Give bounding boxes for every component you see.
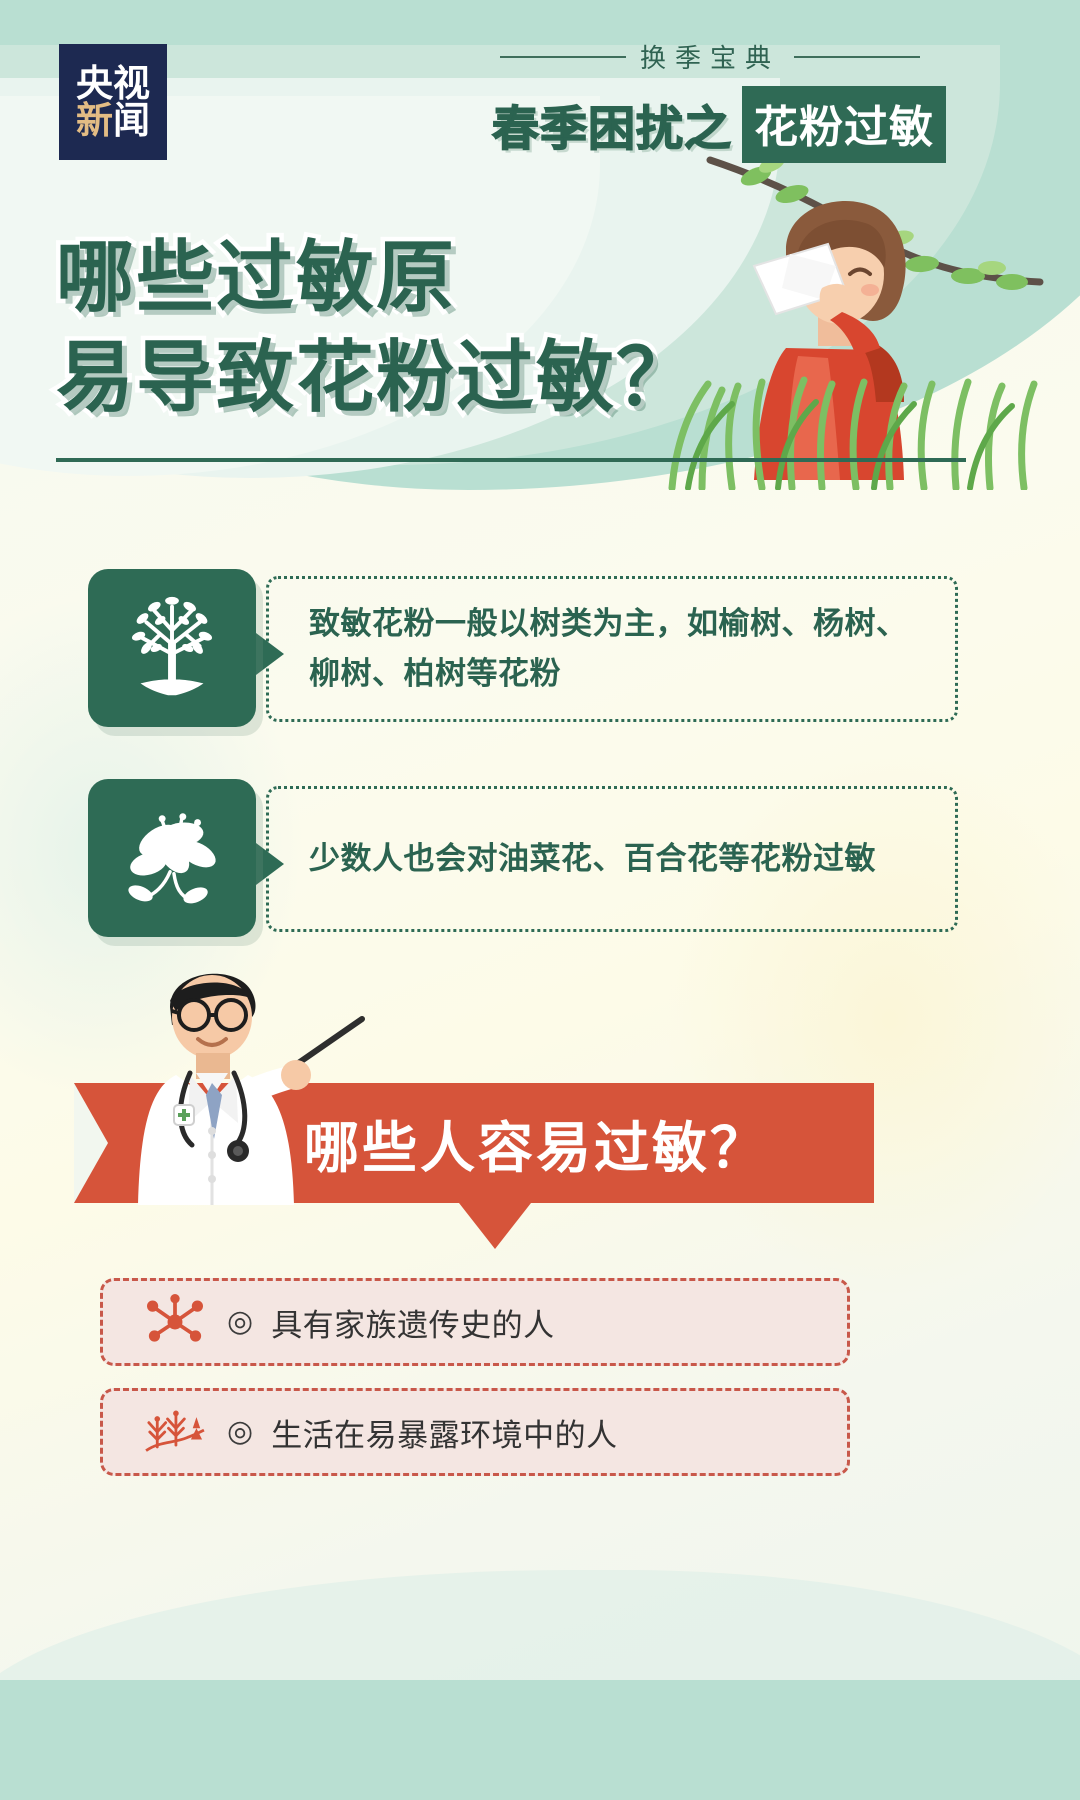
kicker-row: 换季宝典: [500, 38, 920, 75]
infographic-poster: 央视 新 闻 换季宝典 春季困扰之 花粉过敏 哪些过敏原 易导致花粉过敏？: [0, 0, 1080, 1800]
banner-title: 哪些人容易过敏？: [304, 1083, 844, 1203]
people-row-1: ◎ 具有家族遗传史的人: [100, 1278, 850, 1366]
flower-icon: [88, 779, 256, 937]
page-title-line-1: 哪些过敏原: [56, 228, 816, 328]
title-divider: [56, 458, 966, 462]
row-1-text: 具有家族遗传史的人: [271, 1300, 555, 1345]
banner-notch: [74, 1083, 108, 1203]
logo-line-2: 新 闻: [76, 102, 150, 139]
card-2-body: 少数人也会对油菜花、百合花等花粉过敏: [266, 786, 958, 932]
subtitle-highlight: 花粉过敏: [742, 86, 946, 163]
logo-char-yang: 央视: [76, 65, 150, 102]
cctv-news-logo[interactable]: 央视 新 闻: [59, 44, 167, 160]
page-title: 哪些过敏原 易导致花粉过敏？: [56, 228, 816, 428]
logo-char-xin: 新: [76, 102, 113, 139]
card-1-text: 致敏花粉一般以树类为主，如榆树、杨树、柳树、柏树等花粉: [309, 599, 925, 699]
kicker-rule-right: [794, 56, 920, 58]
logo-char-wen: 闻: [113, 102, 150, 139]
tree-icon: [88, 569, 256, 727]
kicker-text: 换季宝典: [640, 38, 780, 75]
banner-tail: [459, 1203, 531, 1249]
card-1-body: 致敏花粉一般以树类为主，如榆树、杨树、柳树、柏树等花粉: [266, 576, 958, 722]
subtitle-row: 春季困扰之 花粉过敏: [492, 86, 946, 163]
row-1-bullet: ◎: [227, 1307, 253, 1337]
page-title-line-2: 易导致花粉过敏？: [56, 328, 816, 428]
subtitle-plain: 春季困扰之: [492, 90, 732, 159]
row-2-text: 生活在易暴露环境中的人: [271, 1410, 618, 1455]
kicker-rule-left: [500, 56, 626, 58]
bottom-mint-band: [0, 1680, 1080, 1800]
card-2-text: 少数人也会对油菜花、百合花等花粉过敏: [309, 834, 876, 884]
trees-field-icon: [141, 1403, 209, 1461]
row-2-bullet: ◎: [227, 1417, 253, 1447]
molecule-icon: [141, 1293, 209, 1351]
doctor-illustration: [118, 955, 378, 1205]
people-row-2: ◎ 生活在易暴露环境中的人: [100, 1388, 850, 1476]
logo-line-1: 央视: [76, 65, 150, 102]
